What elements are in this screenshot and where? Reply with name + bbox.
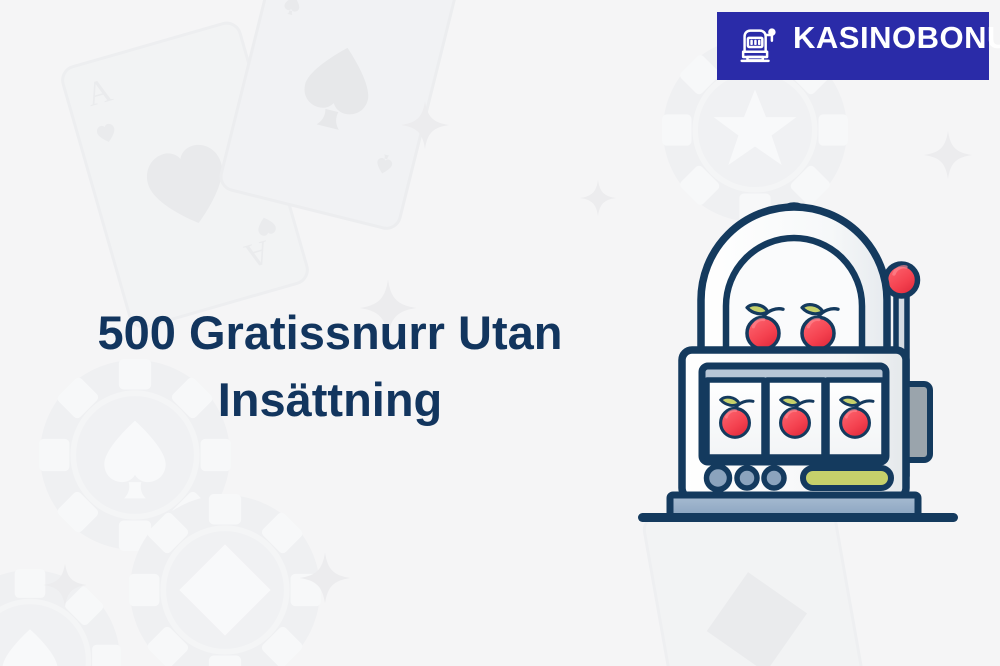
slot-floor-line	[638, 513, 958, 522]
slot-reels	[707, 380, 884, 457]
ace-of-spades-card: A	[218, 0, 462, 231]
ace-of-hearts-card: A A	[59, 20, 310, 330]
slot-base	[638, 495, 958, 522]
svg-text:A: A	[240, 232, 274, 274]
promotional-banner: A A A	[0, 0, 1000, 666]
slot-buttons	[707, 467, 785, 490]
logo-text-group: KASINOBONUS .AI	[793, 22, 1000, 71]
slot-button-3	[764, 468, 784, 488]
slot-reel-2	[767, 380, 824, 457]
slot-button-1	[707, 467, 730, 490]
slot-body	[682, 350, 906, 498]
slot-reel-3	[827, 380, 884, 457]
headline-line-1: 500 Gratissnurr Utan	[98, 306, 563, 359]
slot-button-2	[737, 468, 757, 488]
page-title: 500 Gratissnurr Utan Insättning	[30, 300, 630, 433]
slot-machine-icon	[735, 23, 781, 69]
slot-machine-illustration	[628, 190, 968, 530]
headline-line-2: Insättning	[218, 373, 443, 426]
slot-dome	[701, 207, 887, 355]
poker-chip-diamond	[129, 494, 321, 666]
logo-brand-name: KASINOBONUS	[793, 22, 1000, 53]
slot-reel-1	[707, 380, 764, 457]
site-logo[interactable]: KASINOBONUS .AI	[717, 12, 989, 80]
poker-chip-spade-lower	[0, 569, 121, 666]
svg-text:A: A	[82, 72, 116, 114]
slot-payout-bar	[803, 468, 891, 488]
